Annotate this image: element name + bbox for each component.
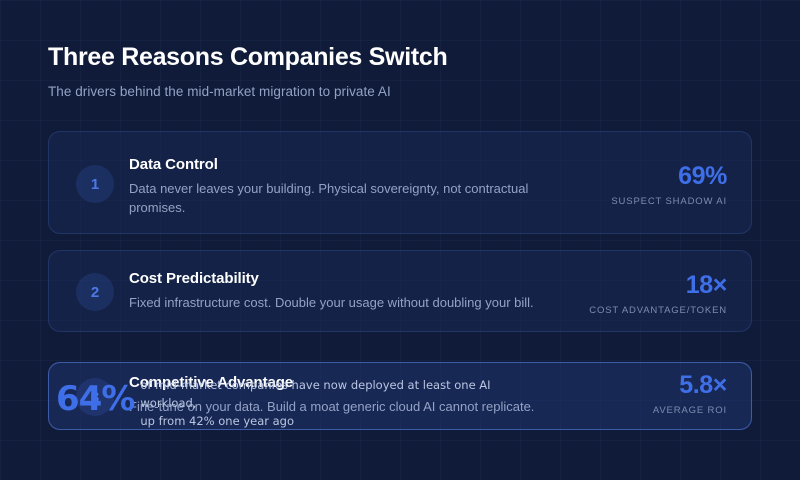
- stat-value: 18×: [589, 273, 727, 298]
- stat-value: 5.8×: [653, 373, 727, 398]
- card-description: Data never leaves your building. Physica…: [129, 180, 551, 218]
- stat-label: COST ADVANTAGE/TOKEN: [589, 305, 727, 316]
- card-stat: 18× COST ADVANTAGE/TOKEN: [589, 273, 727, 316]
- callout-line-1: of mid-market companies have now deploye…: [140, 377, 540, 413]
- reason-card[interactable]: 2 Cost Predictability Fixed infrastructu…: [48, 250, 752, 332]
- card-description: Fixed infrastructure cost. Double your u…: [129, 294, 551, 313]
- card-number-badge: 2: [76, 273, 114, 311]
- card-title: Cost Predictability: [129, 270, 551, 287]
- page-title: Three Reasons Companies Switch: [48, 44, 447, 72]
- callout-value: 64%: [56, 382, 134, 416]
- card-number-badge: 1: [76, 165, 114, 203]
- card-body: Cost Predictability Fixed infrastructure…: [129, 270, 551, 313]
- page-subtitle: The drivers behind the mid-market migrat…: [48, 84, 447, 99]
- stat-value: 69%: [611, 164, 727, 189]
- card-stat: 5.8× AVERAGE ROI: [653, 373, 727, 416]
- stat-label: SUSPECT SHADOW AI: [611, 196, 727, 207]
- card-stat: 69% SUSPECT SHADOW AI: [611, 164, 727, 207]
- slide-container: Three Reasons Companies Switch The drive…: [0, 0, 800, 480]
- callout-text: of mid-market companies have now deploye…: [140, 377, 540, 430]
- header: Three Reasons Companies Switch The drive…: [48, 44, 447, 99]
- stat-label: AVERAGE ROI: [653, 405, 727, 416]
- card-body: Data Control Data never leaves your buil…: [129, 156, 551, 218]
- statistic-callout: 64% of mid-market companies have now dep…: [56, 372, 540, 430]
- card-title: Data Control: [129, 156, 551, 173]
- reason-card[interactable]: 1 Data Control Data never leaves your bu…: [48, 131, 752, 234]
- callout-line-2: up from 42% one year ago: [140, 413, 540, 431]
